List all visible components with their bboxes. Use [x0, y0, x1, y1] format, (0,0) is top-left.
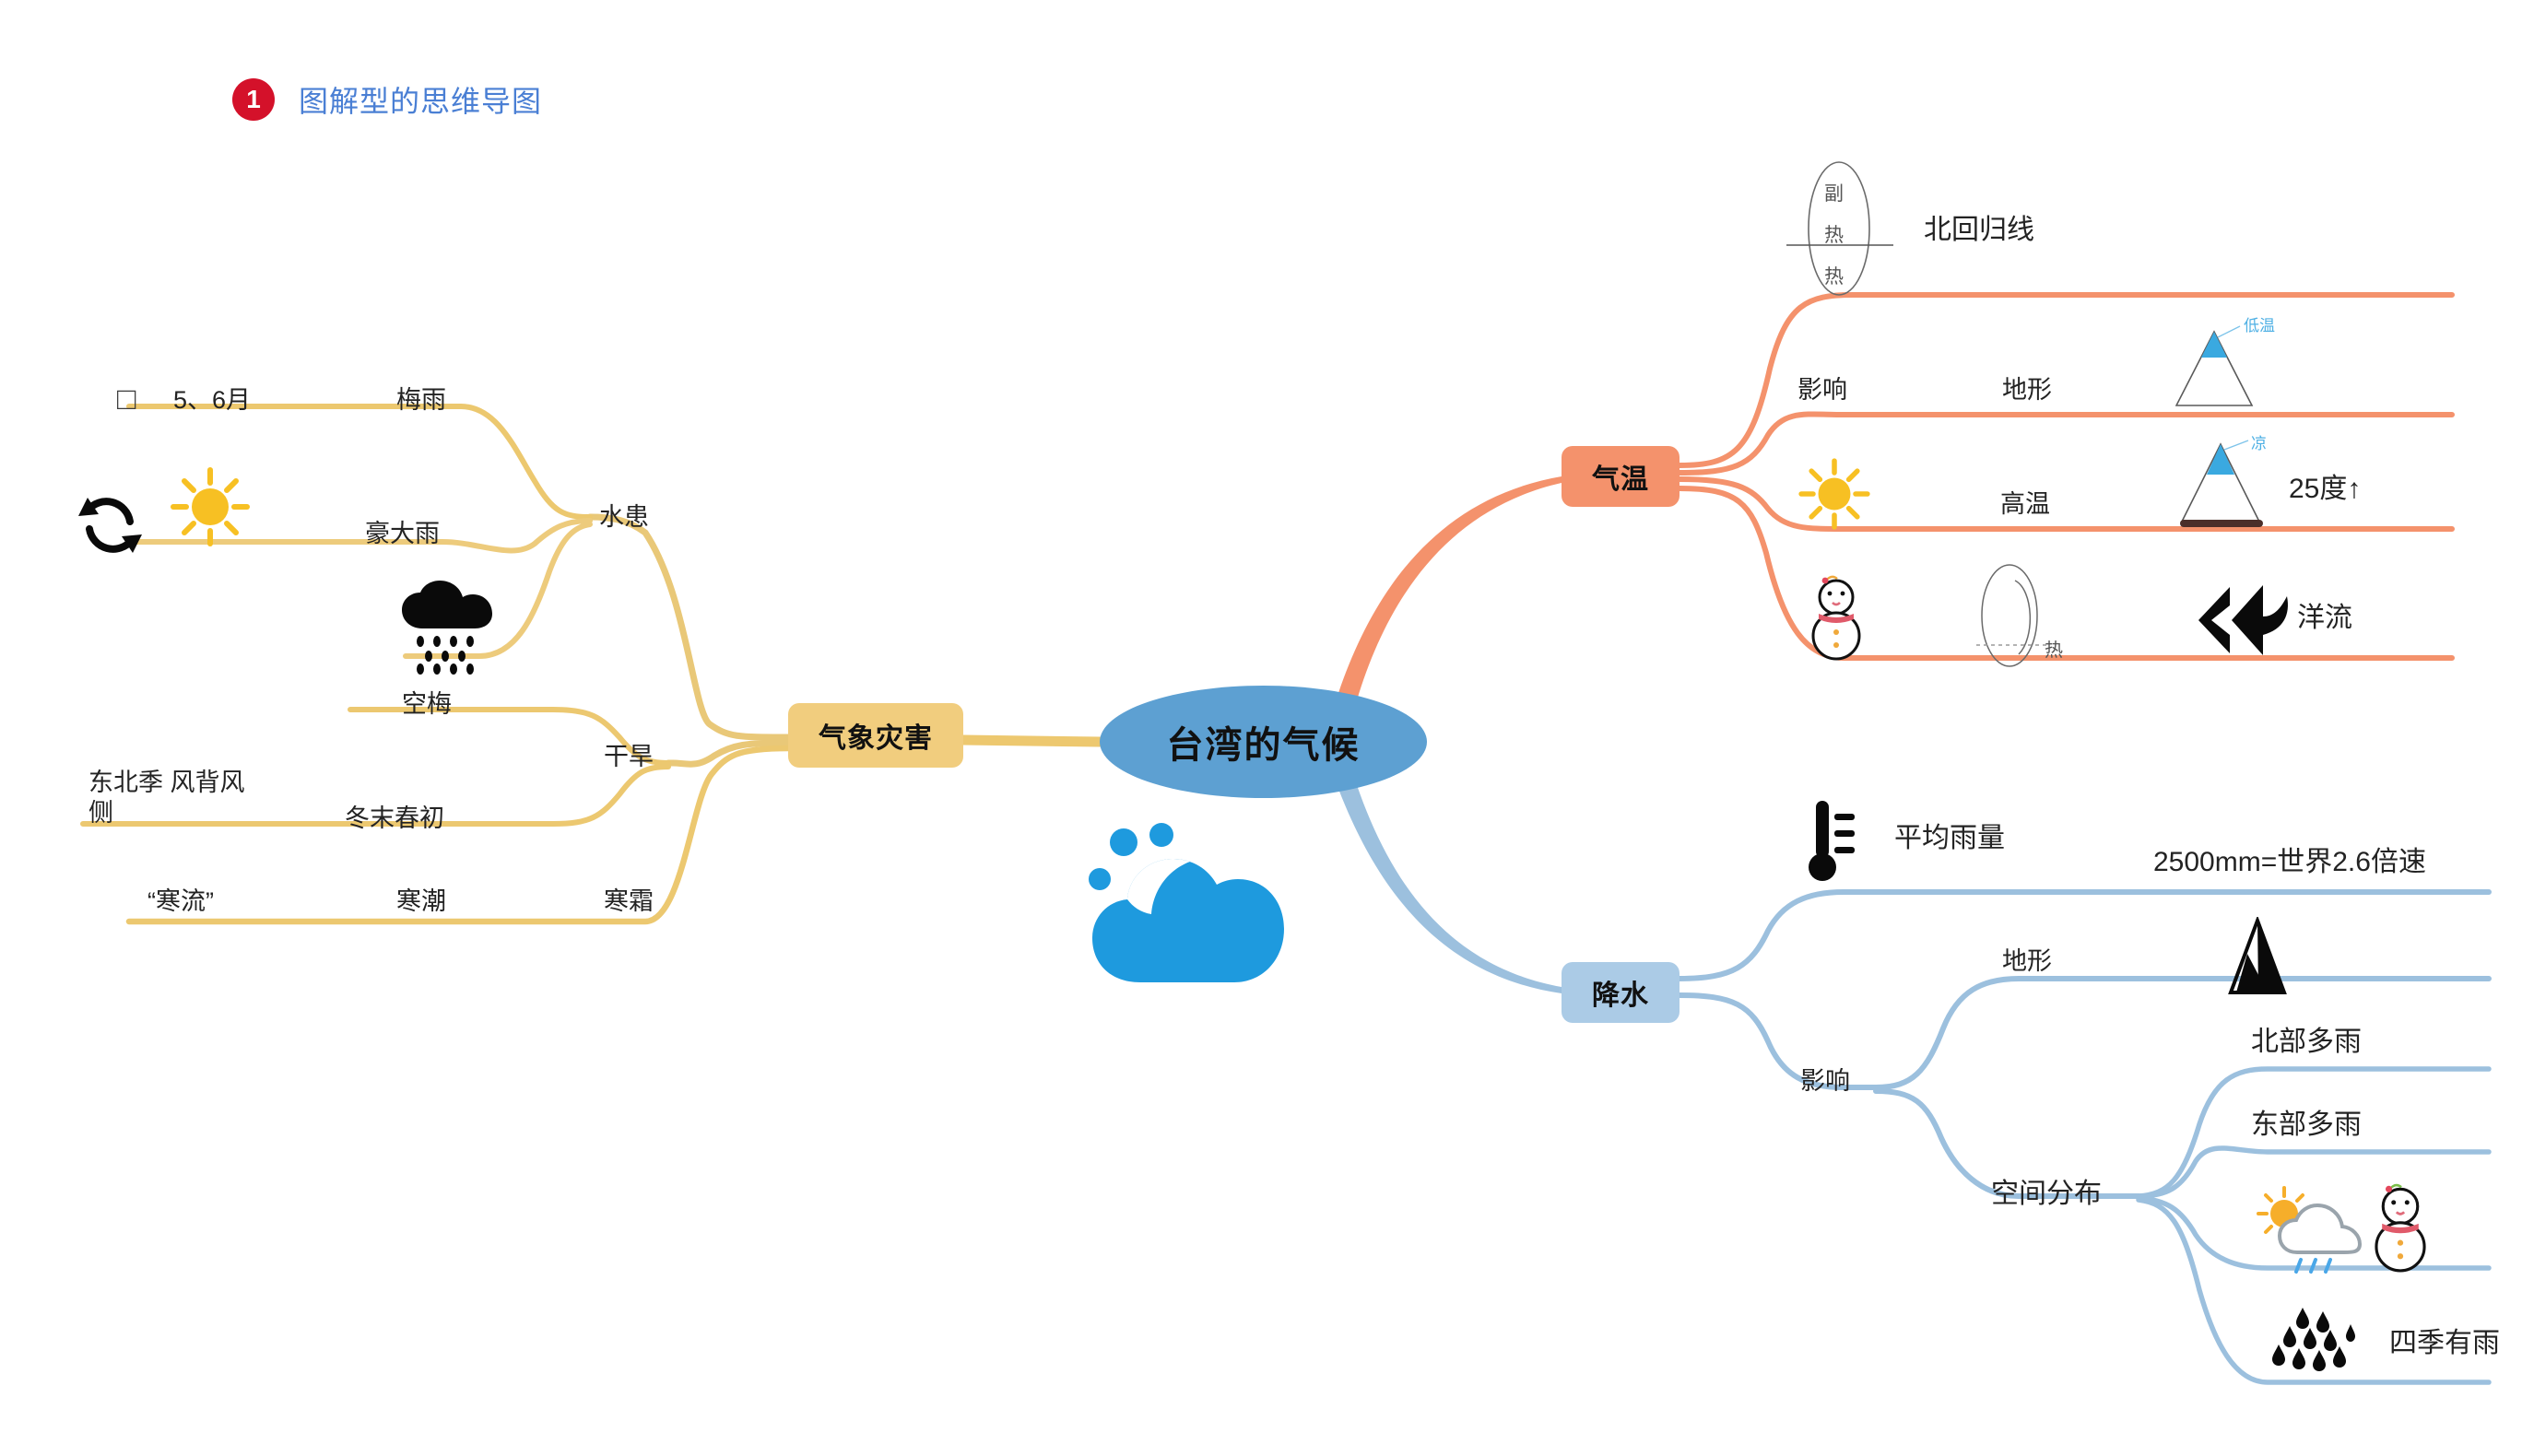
center-node-taiwan-climate[interactable]: 台湾的气候	[1100, 686, 1427, 798]
node-temperature[interactable]: 气温	[1562, 446, 1680, 507]
mindmap-canvas: 1 图解型的思维导图	[0, 0, 2534, 1456]
thermometer-icon	[1799, 795, 1866, 887]
label-rain-all-seasons[interactable]: 四季有雨	[2389, 1327, 2500, 1361]
page-title: 图解型的思维导图	[299, 78, 542, 121]
section-number-badge: 1	[232, 78, 275, 121]
sun-icon	[164, 461, 256, 553]
mountain-peak-icon	[2216, 917, 2299, 1000]
label-empty-plum[interactable]: 空梅	[402, 689, 452, 720]
page-header: 1 图解型的思维导图	[232, 78, 542, 121]
label-cold-current[interactable]: “寒流”	[147, 887, 214, 917]
label-high-temperature[interactable]: 高温	[2000, 489, 2050, 520]
sun-icon	[1792, 452, 1877, 536]
label-precipitation-terrain[interactable]: 地形	[2002, 946, 2052, 977]
label-east-rainy[interactable]: 东部多雨	[2251, 1109, 2362, 1143]
node-precipitation[interactable]: 降水	[1562, 962, 1680, 1023]
label-ne-monsoon-text: 东北季 风背风侧	[88, 769, 245, 827]
cycle-arrows-icon	[72, 488, 147, 562]
rain-drops-icon	[2269, 1304, 2362, 1378]
label-temperature-terrain[interactable]: 地形	[2002, 375, 2052, 405]
wire-center-to-temperature	[1338, 476, 1562, 700]
node-meteorological-disaster[interactable]: 气象灾害	[788, 703, 963, 768]
label-cold-wave[interactable]: 寒潮	[396, 887, 446, 917]
wire-disaster-to-flood	[590, 517, 788, 737]
snowman-icon	[2364, 1181, 2436, 1274]
label-north-rainy[interactable]: 北部多雨	[2251, 1026, 2362, 1060]
wire-precip-to-avgrain	[1680, 892, 2489, 979]
label-spatial-distribution[interactable]: 空间分布	[1991, 1178, 2102, 1212]
tropic-of-cancer-icon	[1779, 155, 1899, 302]
label-frost[interactable]: 寒霜	[604, 887, 654, 917]
wire-center-to-precipitation	[1338, 785, 1562, 993]
label-temperature-influence[interactable]: 影响	[1797, 375, 1847, 405]
double-arrow-left-icon	[2198, 583, 2300, 657]
label-ocean-current[interactable]: 洋流	[2297, 602, 2352, 636]
mountain-cold-icon	[2175, 315, 2286, 417]
label-rainfall-value: 2500mm=世界2.6倍速	[2153, 846, 2426, 880]
wire-center-to-disaster	[963, 740, 1100, 742]
label-precipitation-influence[interactable]: 影响	[1800, 1066, 1850, 1097]
ellipse-hot-icon	[1969, 562, 2057, 669]
label-average-rainfall[interactable]: 平均雨量	[1894, 822, 2005, 856]
mountain-cool-icon	[2180, 433, 2300, 539]
sun-rain-cloud-icon	[2249, 1184, 2369, 1276]
label-ne-monsoon-leeward: 东北季 风背风侧	[88, 768, 245, 828]
label-may-june: 5、6月	[173, 385, 251, 416]
rain-cloud-icon	[396, 581, 498, 677]
label-flood[interactable]: 水患	[599, 502, 649, 533]
label-late-winter[interactable]: 冬末春初	[345, 804, 444, 834]
label-plum-rain[interactable]: 梅雨	[396, 385, 446, 416]
label-heavy-rain[interactable]: 豪大雨	[365, 519, 440, 549]
label-drought[interactable]: 干旱	[604, 742, 654, 772]
snowman-icon	[1802, 573, 1870, 662]
label-tropic-of-cancer[interactable]: 北回归线	[1924, 214, 2034, 248]
cloud-icon	[1083, 802, 1323, 995]
missing-glyph-box-icon: □	[117, 381, 136, 418]
wire-temperature-to-tropic	[1680, 295, 2452, 465]
